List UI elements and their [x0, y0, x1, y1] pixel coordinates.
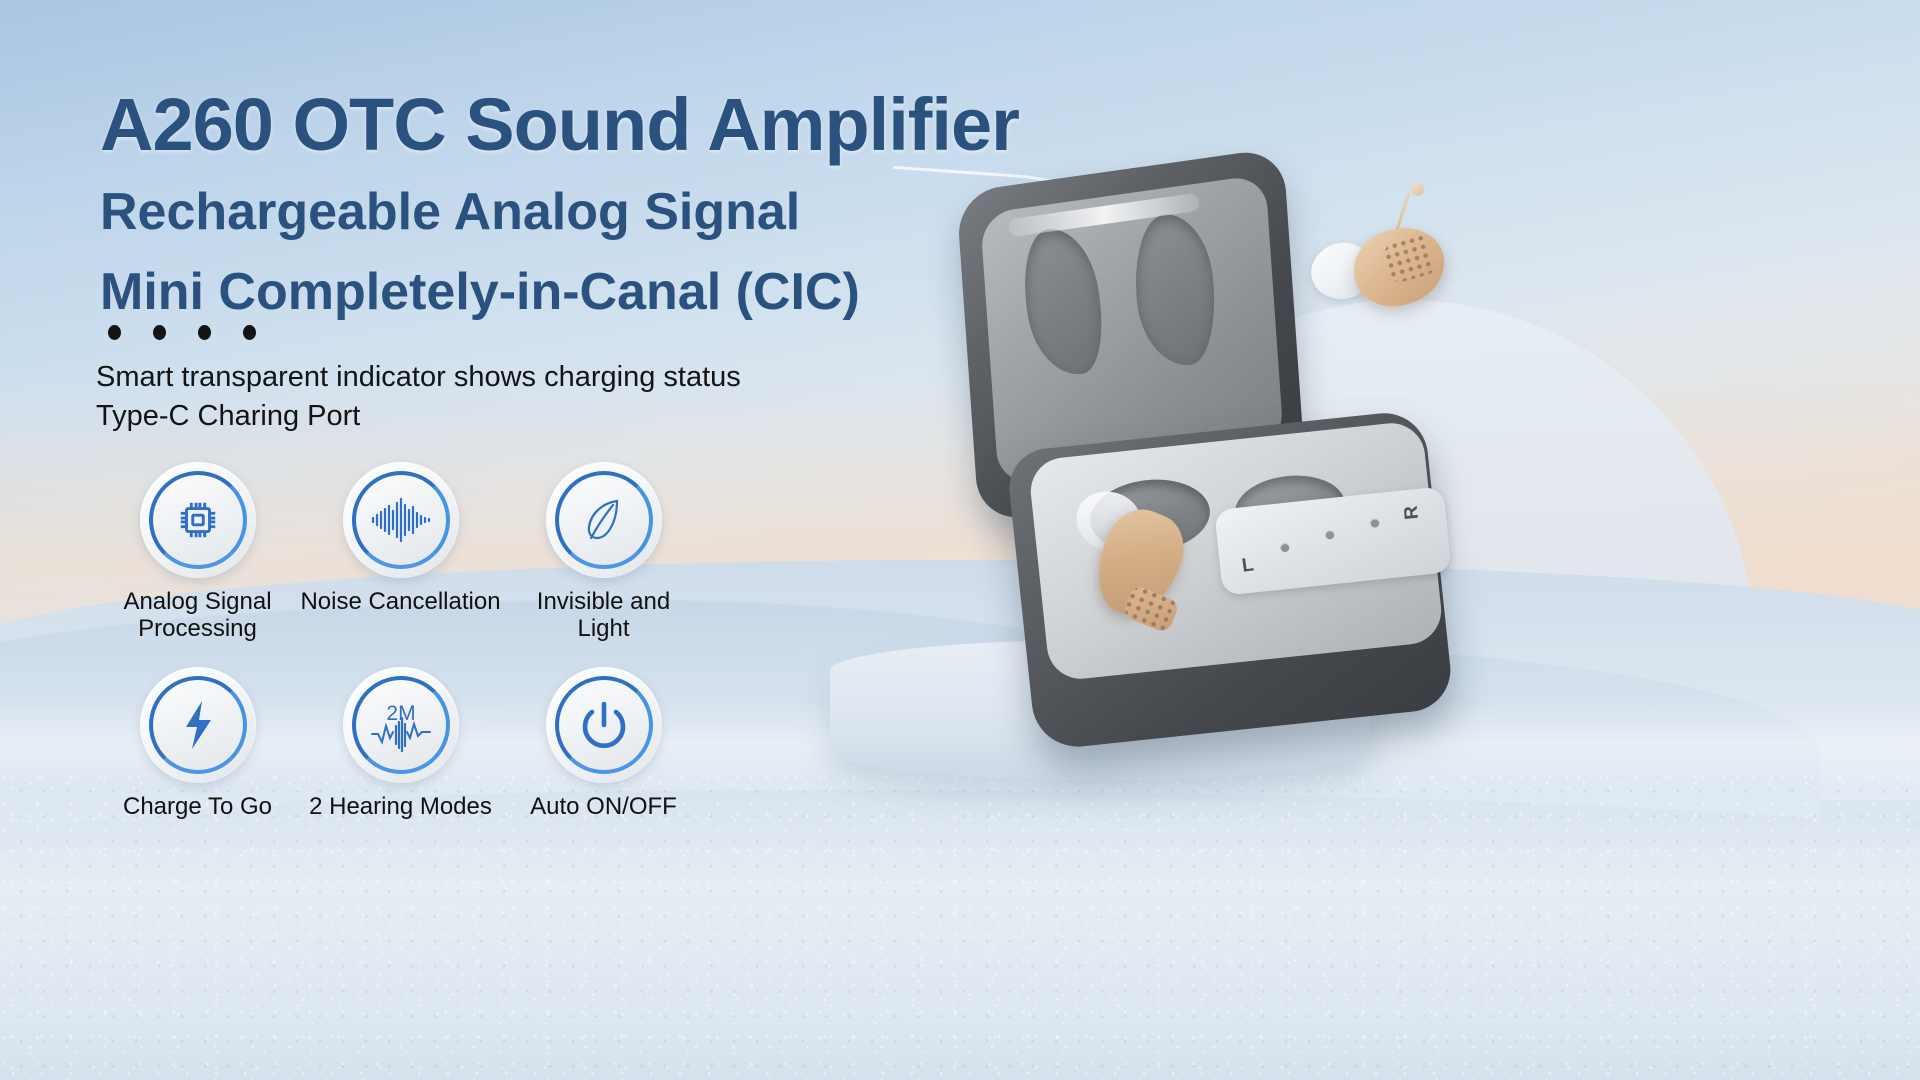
bullet-dot — [243, 325, 256, 340]
led-dot-1 — [1280, 543, 1290, 553]
feature-icon-grid: Analog Signal Processing Noise Cancellat… — [96, 462, 716, 821]
hearing-aid-wire-tip — [1411, 183, 1424, 196]
feather-icon — [579, 495, 629, 545]
feature-badge: 2M — [343, 667, 459, 783]
led-label-right: R — [1401, 505, 1424, 521]
description-block: Smart transparent indicator shows chargi… — [96, 358, 741, 435]
led-dot-2 — [1325, 530, 1335, 540]
feature-badge — [140, 462, 256, 578]
subtitle-line-1: Rechargeable Analog Signal — [100, 182, 800, 242]
two-modes-waveform-icon: 2M — [369, 698, 433, 752]
feature-label: Analog Signal Processing — [123, 589, 271, 643]
feature-label: 2 Hearing Modes — [309, 794, 492, 821]
feature-label: Auto ON/OFF — [530, 794, 677, 821]
feature-badge — [546, 462, 662, 578]
feature-label: Noise Cancellation — [300, 589, 500, 616]
feature-badge — [546, 667, 662, 783]
feature-invisible-and-light[interactable]: Invisible and Light — [502, 462, 705, 643]
feature-auto-on-off[interactable]: Auto ON/OFF — [502, 667, 705, 821]
feature-badge — [343, 462, 459, 578]
product-image-charging-case: L R — [930, 140, 1570, 760]
power-icon — [578, 699, 630, 751]
description-line-1: Smart transparent indicator shows chargi… — [96, 358, 741, 397]
feature-badge — [140, 667, 256, 783]
bullet-dot — [108, 325, 121, 340]
hero-banner: L R A260 OTC Sound Amplifier Rechargeabl… — [0, 0, 1920, 1080]
lightning-bolt-icon — [178, 699, 218, 751]
feature-analog-signal-processing[interactable]: Analog Signal Processing — [96, 462, 299, 643]
feature-label: Invisible and Light — [537, 589, 670, 643]
led-label-left: L — [1241, 554, 1256, 577]
page-title: A260 OTC Sound Amplifier — [100, 82, 1019, 167]
bullet-dot-row — [108, 325, 256, 340]
led-dot-3 — [1370, 518, 1380, 528]
bullet-dot — [198, 325, 211, 340]
feature-charge-to-go[interactable]: Charge To Go — [96, 667, 299, 821]
bullet-dot — [153, 325, 166, 340]
feature-label: Charge To Go — [123, 794, 272, 821]
feature-row-2: Charge To Go 2M 2 Hearing Mo — [96, 667, 716, 821]
subtitle-line-2: Mini Completely-in-Canal (CIC) — [100, 262, 860, 322]
feature-2-hearing-modes[interactable]: 2M 2 Hearing Modes — [299, 667, 502, 821]
feature-row-1: Analog Signal Processing Noise Cancellat… — [96, 462, 716, 643]
description-line-2: Type-C Charing Port — [96, 397, 741, 436]
floating-hearing-aid — [1295, 195, 1455, 355]
sound-wave-icon — [370, 496, 432, 544]
feature-noise-cancellation[interactable]: Noise Cancellation — [299, 462, 502, 643]
chip-icon — [175, 497, 221, 543]
